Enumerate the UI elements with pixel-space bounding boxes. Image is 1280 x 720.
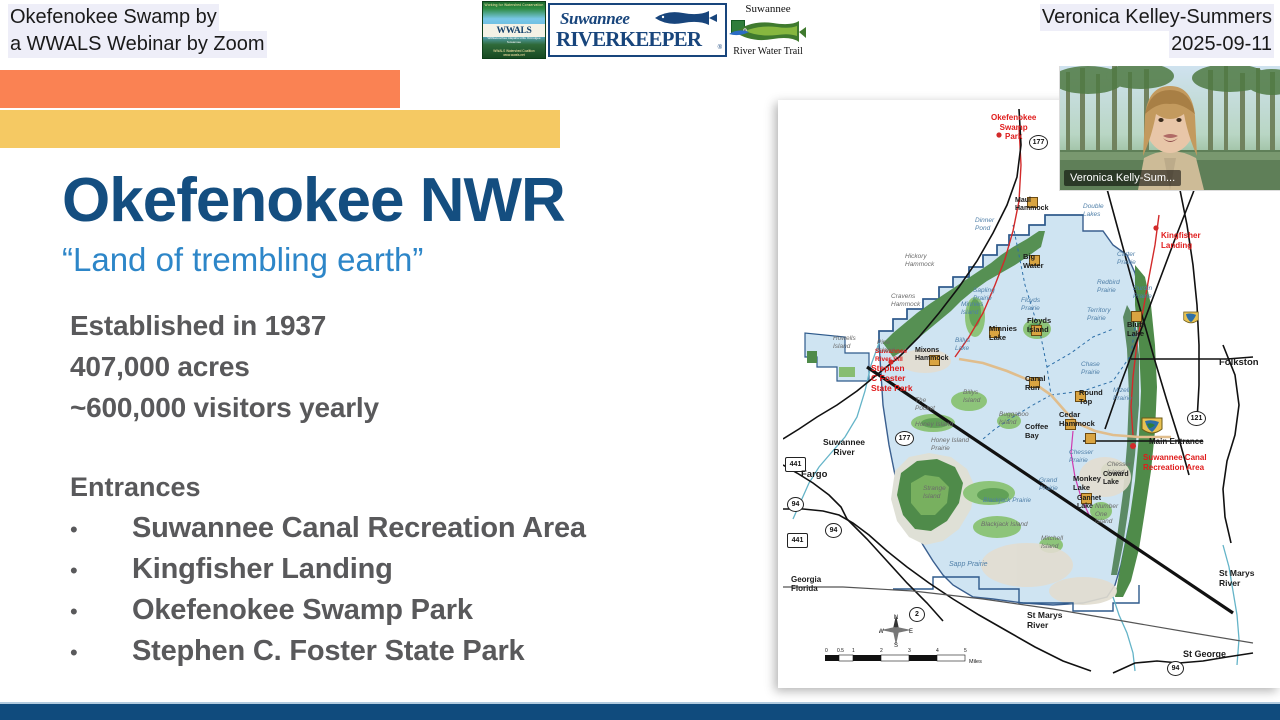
bass-fish-icon — [729, 18, 807, 44]
water-trail-logo-line1: Suwannee — [729, 3, 807, 15]
wwals-logo-footer: WWALS Watershed Coalition www.wwals.net — [483, 49, 545, 57]
map-vector-graphic — [783, 105, 1268, 683]
header-left-line1: Okefenokee Swamp by — [8, 4, 219, 31]
highway-shield-177: 177 — [1029, 135, 1048, 150]
highway-shield-94: 94 — [787, 497, 804, 512]
svg-text:3: 3 — [908, 648, 911, 654]
header-right-text: Veronica Kelley-Summers 2025-09-11 — [1040, 4, 1274, 58]
facts-list: Established in 1937 407,000 acres ~600,0… — [70, 305, 379, 428]
participant-video-tile[interactable]: Veronica Kelly-Sum... — [1059, 66, 1280, 191]
highway-shield-94: 94 — [1167, 661, 1184, 676]
list-item: • Okefenokee Swamp Park — [70, 590, 586, 631]
fact-acres: 407,000 acres — [70, 346, 379, 387]
facility-marker-icon — [1081, 493, 1092, 504]
facility-marker-icon — [1065, 419, 1076, 430]
svg-text:1: 1 — [852, 648, 855, 654]
zoom-bottom-toolbar[interactable] — [0, 704, 1280, 720]
slide-subtitle: “Land of trembling earth” — [62, 238, 423, 282]
presenter-name: Veronica Kelley-Summers — [1040, 4, 1274, 31]
usfws-refuge-shield-icon — [1141, 417, 1163, 437]
suwannee-riverkeeper-logo: Suwannee RIVERKEEPER ® — [548, 3, 727, 57]
svg-text:E: E — [909, 629, 913, 635]
entrance-label: Stephen C. Foster State Park — [132, 631, 524, 672]
logo-strip: Working for Watershed Conservation WWALS… — [482, 2, 807, 58]
header-left-text: Okefenokee Swamp by a WWALS Webinar by Z… — [8, 4, 267, 58]
map-image: 177 177 441 94 94 441 2 121 94 Okefenoke… — [783, 105, 1268, 683]
riverkeeper-logo-line2: RIVERKEEPER — [556, 27, 701, 52]
fact-visitors: ~600,000 visitors yearly — [70, 387, 379, 428]
bullet-icon: • — [70, 632, 132, 673]
participant-name-label: Veronica Kelly-Sum... — [1064, 170, 1181, 186]
facility-marker-icon — [929, 355, 940, 366]
bullet-icon: • — [70, 550, 132, 591]
suwannee-river-water-trail-logo: Suwannee River Water Trail — [729, 2, 807, 58]
wwals-watershed-coalition-logo: Working for Watershed Conservation WWALS… — [482, 1, 546, 59]
wwals-logo-name: WWALS — [497, 26, 532, 36]
facility-marker-icon — [1029, 255, 1040, 266]
facility-marker-icon — [1027, 197, 1038, 208]
highway-shield-441: 441 — [787, 533, 808, 548]
facility-marker-icon — [989, 327, 1000, 338]
svg-text:5: 5 — [964, 648, 967, 654]
highway-shield-177: 177 — [895, 431, 914, 446]
slide-title: Okefenokee NWR — [62, 165, 565, 237]
svg-text:W: W — [879, 629, 884, 635]
entrances-heading: Entrances — [70, 472, 201, 503]
zoom-header-bar: Okefenokee Swamp by a WWALS Webinar by Z… — [0, 0, 1280, 66]
presentation-date: 2025-09-11 — [1169, 31, 1274, 58]
facility-marker-icon — [1075, 391, 1086, 402]
entrances-list: • Suwannee Canal Recreation Area • Kingf… — [70, 508, 586, 672]
facility-marker-icon — [1031, 325, 1042, 336]
fish-icon — [653, 9, 719, 27]
list-item: • Kingfisher Landing — [70, 549, 586, 590]
registered-trademark-symbol: ® — [718, 45, 722, 51]
svg-text:Miles: Miles — [969, 659, 982, 665]
bullet-icon: • — [70, 591, 132, 632]
riverkeeper-logo-line1: Suwannee — [560, 9, 630, 29]
svg-text:0.5: 0.5 — [837, 648, 844, 654]
entrance-label: Kingfisher Landing — [132, 549, 393, 590]
header-left-line2: a WWALS Webinar by Zoom — [8, 31, 267, 58]
svg-text:0: 0 — [825, 648, 828, 654]
wwals-logo-top-caption: Working for Watershed Conservation — [483, 3, 545, 7]
orange-accent-bar — [0, 70, 400, 108]
highway-shield-94: 94 — [825, 523, 842, 538]
entrance-label: Okefenokee Swamp Park — [132, 590, 473, 631]
svg-text:N: N — [894, 615, 898, 621]
list-item: • Stephen C. Foster State Park — [70, 631, 586, 672]
wwals-logo-subtitle: Withlacoochee Alapaha Little Ocmulgee Su… — [483, 37, 545, 44]
facility-marker-icon — [1029, 377, 1040, 388]
entrance-label: Suwannee Canal Recreation Area — [132, 508, 586, 549]
bullet-icon: • — [70, 509, 132, 550]
facility-marker-icon — [1085, 433, 1096, 444]
highway-shield-441: 441 — [785, 457, 806, 472]
map-scale-bar: 0 0.5 1 2 3 4 5 Miles — [825, 645, 995, 667]
yellow-accent-bar — [0, 110, 560, 148]
usfws-refuge-shield-icon — [1183, 311, 1199, 326]
list-item: • Suwannee Canal Recreation Area — [70, 508, 586, 549]
compass-rose-icon: N S W E — [879, 613, 913, 647]
fact-established: Established in 1937 — [70, 305, 379, 346]
highway-shield-121: 121 — [1187, 411, 1206, 426]
svg-text:4: 4 — [936, 648, 939, 654]
facility-marker-icon — [1131, 311, 1142, 322]
water-trail-logo-line2: River Water Trail — [729, 46, 807, 57]
svg-text:2: 2 — [880, 648, 883, 654]
